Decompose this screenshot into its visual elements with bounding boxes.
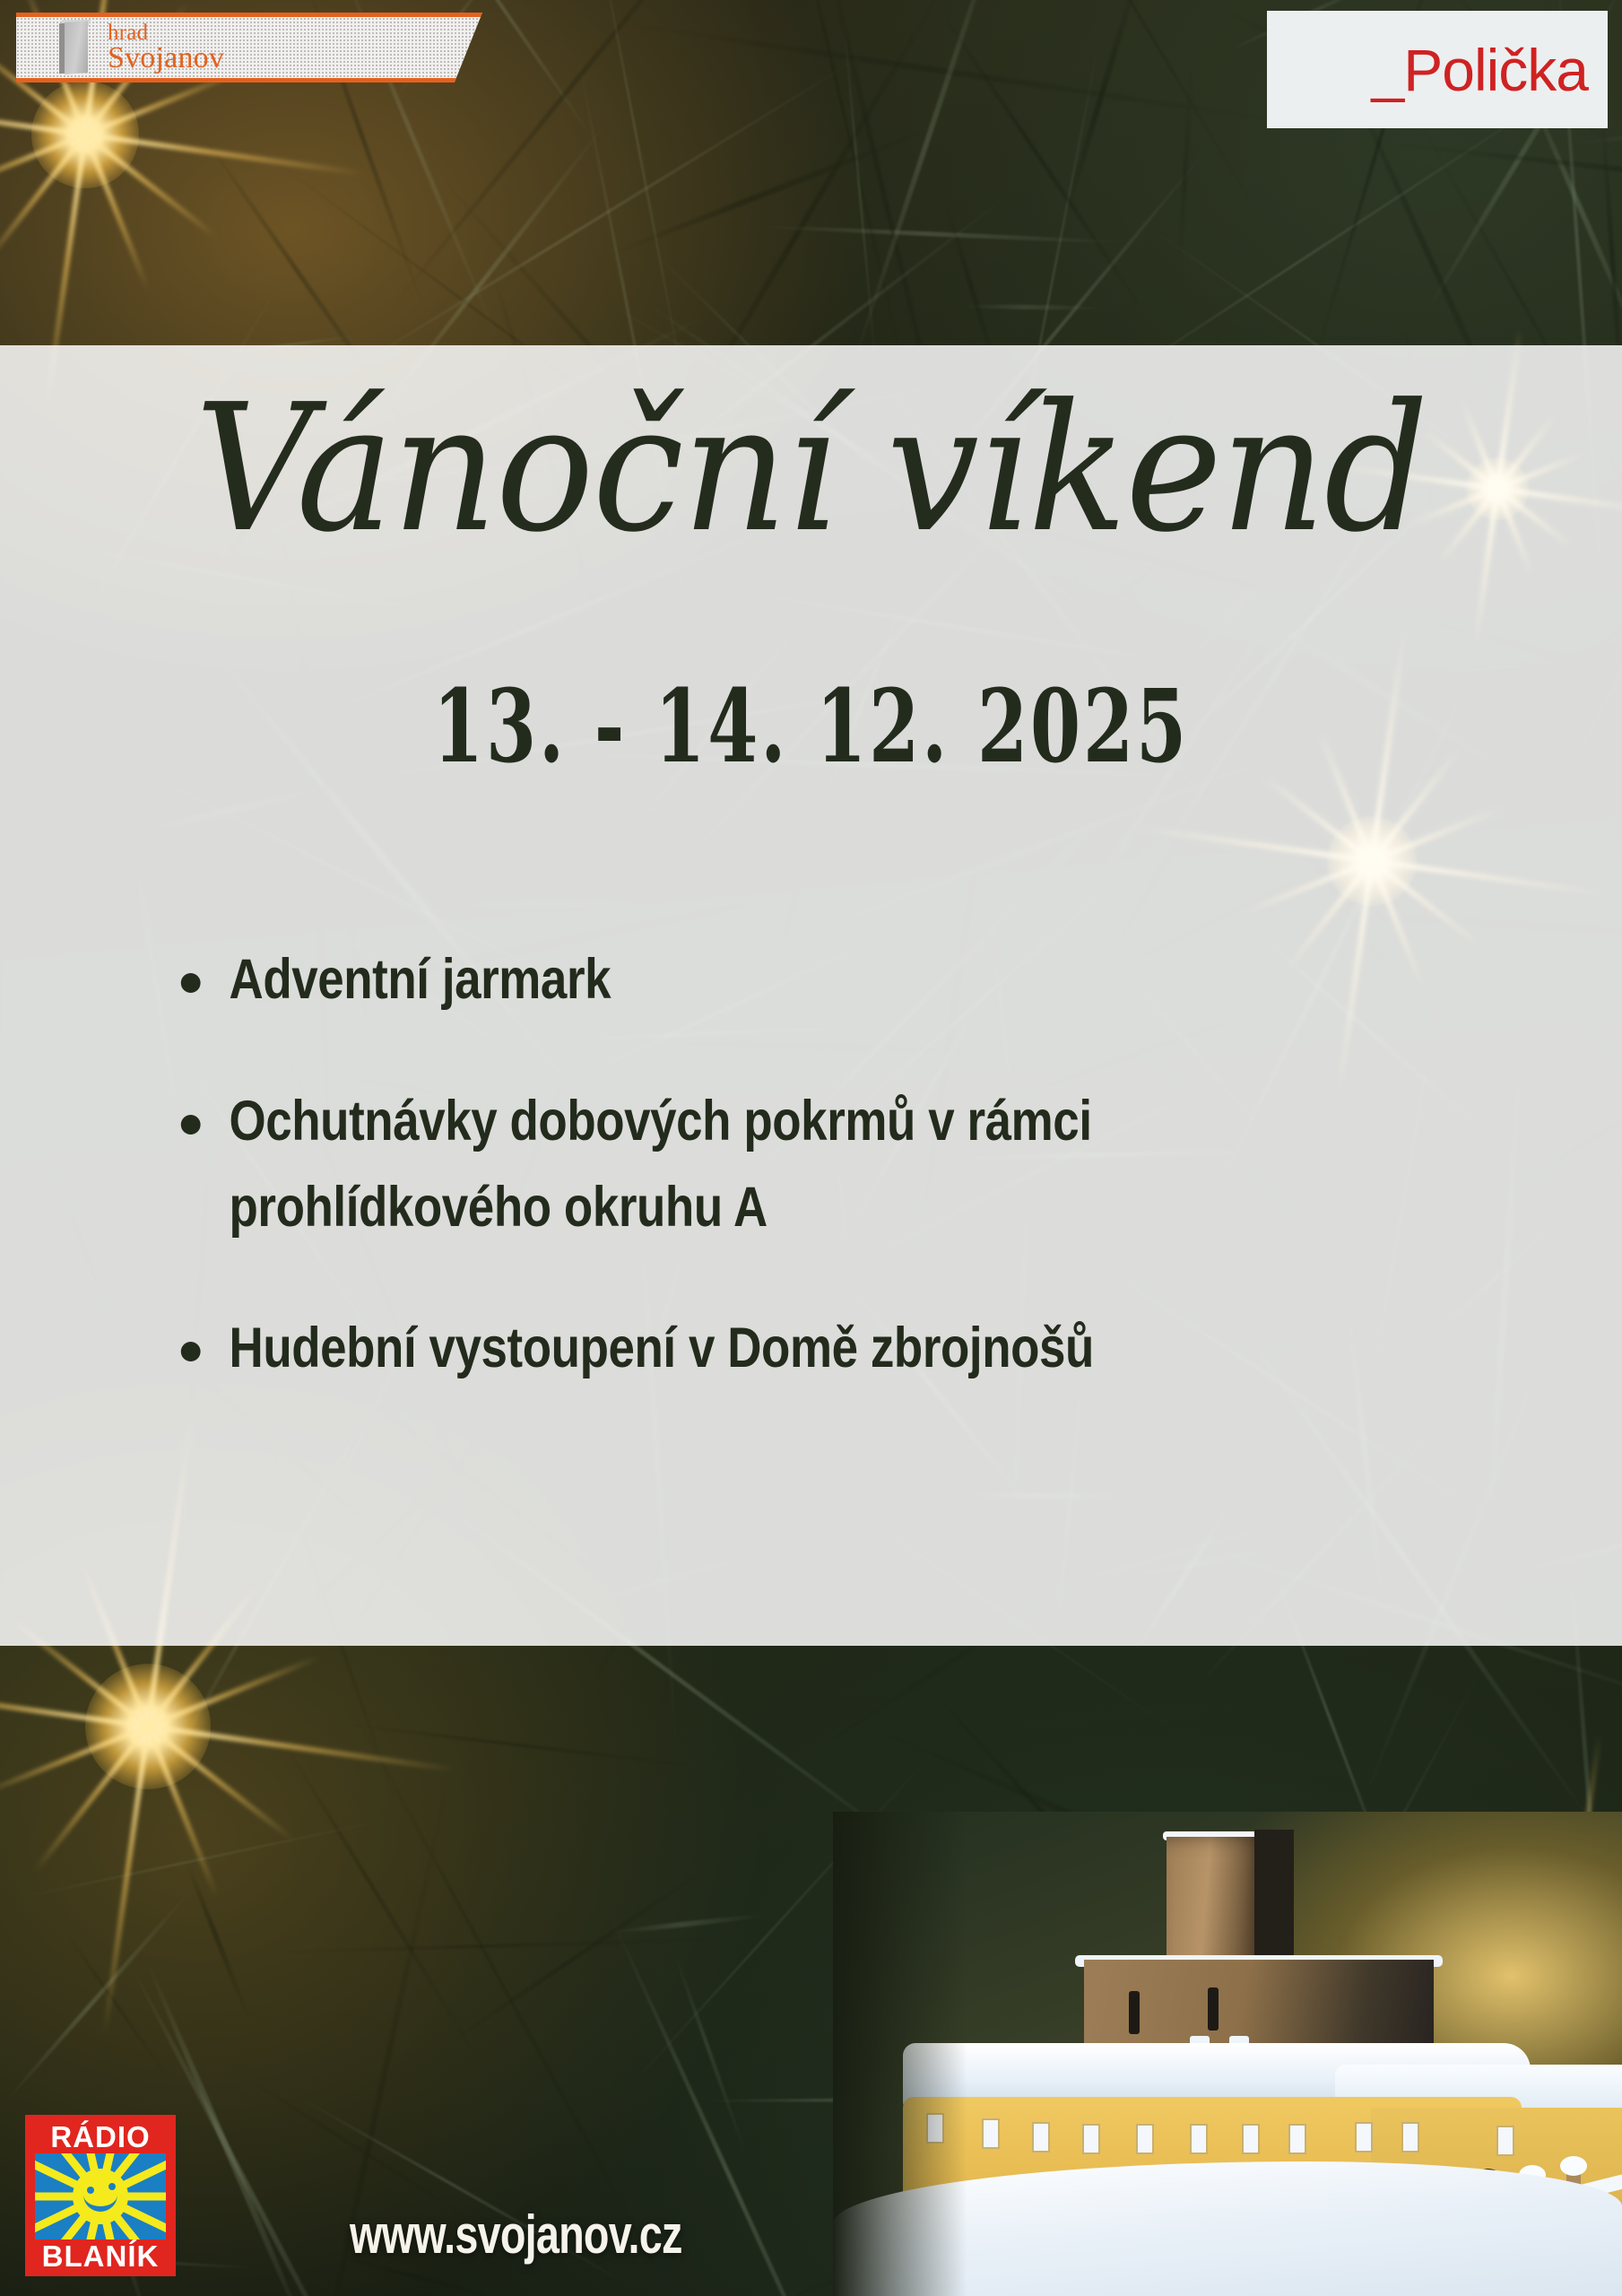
- list-item: Hudební vystoupení v Domě zbrojnošů: [170, 1306, 1299, 1392]
- event-dates: 13. - 14. 12. 2025: [227, 677, 1394, 778]
- list-item-label: Ochutnávky dobových pokrmů v rámci prohl…: [230, 1090, 1092, 1239]
- content-panel: Vánoční víkend 13. - 14. 12. 2025 Advent…: [0, 345, 1622, 1646]
- bullet-dot-icon: [181, 973, 201, 993]
- website-url[interactable]: www.svojanov.cz: [350, 2204, 682, 2266]
- bullet-dot-icon: [181, 1342, 201, 1361]
- policka-logo[interactable]: _Polička: [1267, 11, 1608, 128]
- list-item: Adventní jarmark: [170, 937, 1299, 1023]
- hrad-svojanov-logo[interactable]: hrad Svojanov: [16, 13, 482, 83]
- list-item-label: Adventní jarmark: [230, 948, 612, 1011]
- blanik-line-radio: RÁDIO: [50, 2122, 150, 2152]
- radio-blanik-logo[interactable]: RÁDIO BLANÍK: [25, 2115, 176, 2276]
- smiling-sun-icon: [35, 2153, 166, 2239]
- page-title: Vánoční víkend: [56, 381, 1565, 557]
- castle-tower-icon: [59, 20, 95, 75]
- logo-line-svojanov: Svojanov: [108, 44, 224, 73]
- list-item: Ochutnávky dobových pokrmů v rámci prohl…: [170, 1079, 1299, 1251]
- list-item-label: Hudební vystoupení v Domě zbrojnošů: [230, 1317, 1094, 1379]
- sun-disc: [73, 2169, 128, 2224]
- bullet-dot-icon: [181, 1115, 201, 1135]
- blanik-line-blanik: BLANÍK: [42, 2241, 160, 2271]
- policka-wordmark: _Polička: [1372, 40, 1588, 100]
- poster-root: hrad Svojanov _Polička Vánoční víkend 13…: [0, 0, 1622, 2296]
- svojanov-castle-winter-photo: [833, 1812, 1622, 2296]
- hrad-svojanov-wordmark: hrad Svojanov: [108, 22, 224, 73]
- program-list: Adventní jarmarkOchutnávky dobových pokr…: [170, 937, 1514, 1392]
